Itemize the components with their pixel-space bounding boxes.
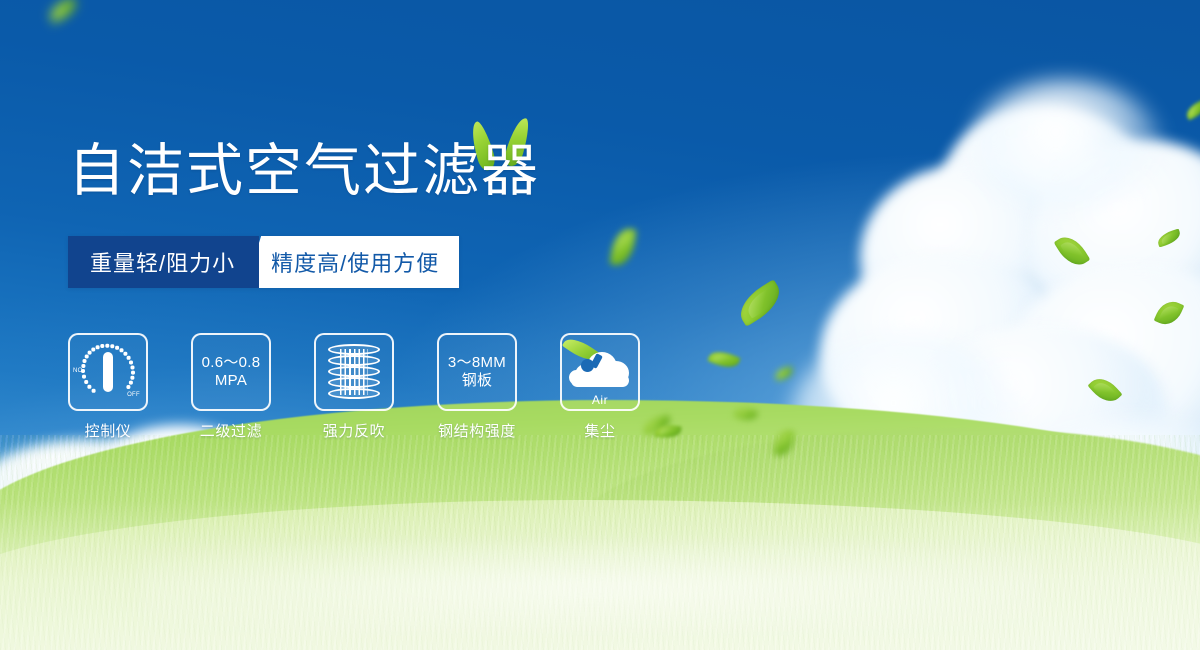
feature-label: 控制仪	[85, 420, 132, 441]
feature-list: NO OFF 控制仪 0.6～0.8 MPA 二级过滤	[68, 333, 640, 441]
floating-leaf-icon	[774, 429, 795, 457]
floating-leaf-icon	[654, 424, 681, 440]
pressure-line-2: MPA	[202, 372, 261, 390]
feature-label: 集尘	[584, 420, 615, 441]
subtitle-bar: 重量轻/阻力小 精度高/使用方便	[68, 236, 459, 288]
steel-line-1: 3～8MM	[448, 354, 506, 372]
feature-item-blowback[interactable]: 强力反吹	[314, 333, 394, 441]
feature-item-steel[interactable]: 3～8MM 钢板 钢结构强度	[437, 333, 517, 441]
dial-label-no: NO	[73, 368, 83, 374]
feature-item-control[interactable]: NO OFF 控制仪	[68, 333, 148, 441]
feature-icon-box: 0.6～0.8 MPA	[191, 333, 271, 411]
air-label: Air	[569, 393, 631, 407]
steel-plate-icon: 3～8MM 钢板	[448, 354, 506, 391]
page-title: 自洁式空气过滤器	[68, 143, 540, 200]
dial-label-off: OFF	[127, 392, 140, 398]
promo-banner: 自洁式空气过滤器 重量轻/阻力小 精度高/使用方便	[0, 0, 1200, 650]
subtitle-right: 精度高/使用方便	[245, 236, 459, 288]
air-cloud-icon: Air	[569, 350, 631, 394]
control-dial-icon: NO OFF	[74, 341, 142, 403]
filter-stack-icon	[328, 344, 380, 400]
feature-icon-box: Air	[560, 333, 640, 411]
pressure-line-1: 0.6～0.8	[202, 354, 261, 372]
feature-icon-box: NO OFF	[68, 333, 148, 411]
subtitle-left: 重量轻/阻力小	[68, 236, 259, 288]
feature-label: 二级过滤	[200, 420, 262, 441]
hill-front	[0, 500, 1200, 650]
feature-icon-box	[314, 333, 394, 411]
steel-line-2: 钢板	[448, 372, 506, 390]
feature-label: 钢结构强度	[438, 420, 516, 441]
feature-item-pressure[interactable]: 0.6～0.8 MPA 二级过滤	[191, 333, 271, 441]
dial-needle	[103, 352, 113, 392]
meadow-foreground	[0, 440, 1200, 650]
feature-label: 强力反吹	[323, 420, 385, 441]
feature-item-dust[interactable]: Air 集尘	[560, 333, 640, 441]
pressure-value-icon: 0.6～0.8 MPA	[202, 354, 261, 391]
feature-icon-box: 3～8MM 钢板	[437, 333, 517, 411]
